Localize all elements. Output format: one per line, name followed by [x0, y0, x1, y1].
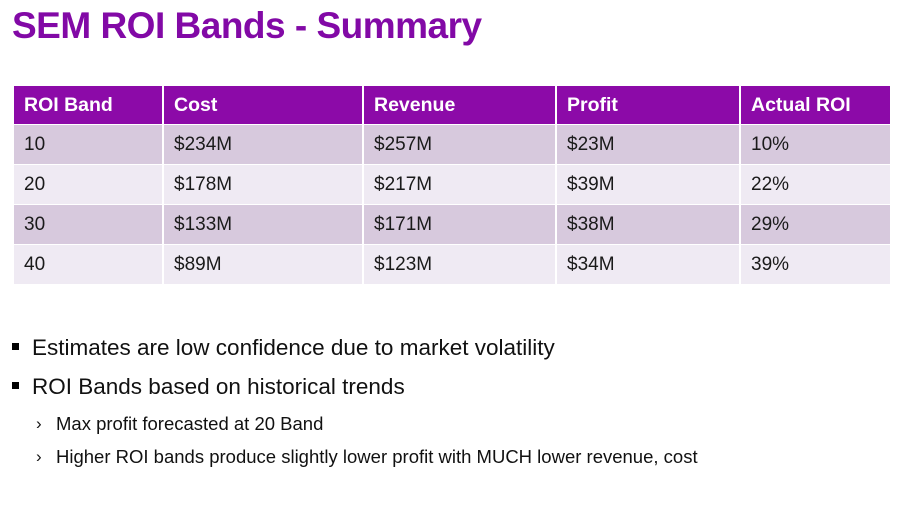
- list-item: ROI Bands based on historical trends: [12, 372, 892, 401]
- cell-band: 30: [14, 205, 162, 244]
- cell-profit: $23M: [557, 125, 739, 164]
- square-bullet-icon: [12, 333, 32, 350]
- table-body: 10 $234M $257M $23M 10% 20 $178M $217M $…: [14, 125, 890, 284]
- cell-roi: 29%: [741, 205, 890, 244]
- cell-revenue: $257M: [364, 125, 555, 164]
- cell-revenue: $123M: [364, 245, 555, 284]
- cell-profit: $38M: [557, 205, 739, 244]
- cell-revenue: $171M: [364, 205, 555, 244]
- cell-cost: $133M: [164, 205, 362, 244]
- cell-roi: 10%: [741, 125, 890, 164]
- cell-profit: $34M: [557, 245, 739, 284]
- bullet-text: ROI Bands based on historical trends: [32, 372, 405, 401]
- list-item: › Max profit forecasted at 20 Band: [12, 411, 892, 437]
- bullet-list: Estimates are low confidence due to mark…: [12, 333, 892, 477]
- column-header-roi-band: ROI Band: [14, 86, 162, 124]
- column-header-cost: Cost: [164, 86, 362, 124]
- cell-roi: 39%: [741, 245, 890, 284]
- cell-cost: $234M: [164, 125, 362, 164]
- chevron-right-icon: ›: [36, 411, 56, 437]
- roi-summary-table: ROI Band Cost Revenue Profit Actual ROI …: [12, 85, 892, 285]
- chevron-right-icon: ›: [36, 444, 56, 470]
- table-header-row: ROI Band Cost Revenue Profit Actual ROI: [14, 86, 890, 124]
- list-item: Estimates are low confidence due to mark…: [12, 333, 892, 362]
- table-row: 10 $234M $257M $23M 10%: [14, 125, 890, 164]
- cell-cost: $178M: [164, 165, 362, 204]
- table-row: 20 $178M $217M $39M 22%: [14, 165, 890, 204]
- table-row: 40 $89M $123M $34M 39%: [14, 245, 890, 284]
- square-bullet-icon: [12, 372, 32, 389]
- sub-bullet-text: Max profit forecasted at 20 Band: [56, 411, 323, 437]
- sub-bullet-list: › Max profit forecasted at 20 Band › Hig…: [12, 411, 892, 470]
- list-item: › Higher ROI bands produce slightly lowe…: [12, 444, 892, 470]
- cell-band: 20: [14, 165, 162, 204]
- column-header-profit: Profit: [557, 86, 739, 124]
- column-header-actual-roi: Actual ROI: [741, 86, 890, 124]
- sub-bullet-text: Higher ROI bands produce slightly lower …: [56, 444, 698, 470]
- bullet-text: Estimates are low confidence due to mark…: [32, 333, 555, 362]
- slide-canvas: { "slide": { "title": "SEM ROI Bands - S…: [0, 0, 900, 524]
- cell-profit: $39M: [557, 165, 739, 204]
- page-title: SEM ROI Bands - Summary: [12, 5, 482, 47]
- cell-band: 40: [14, 245, 162, 284]
- cell-cost: $89M: [164, 245, 362, 284]
- table-row: 30 $133M $171M $38M 29%: [14, 205, 890, 244]
- cell-revenue: $217M: [364, 165, 555, 204]
- table-header: ROI Band Cost Revenue Profit Actual ROI: [14, 86, 890, 124]
- column-header-revenue: Revenue: [364, 86, 555, 124]
- cell-band: 10: [14, 125, 162, 164]
- cell-roi: 22%: [741, 165, 890, 204]
